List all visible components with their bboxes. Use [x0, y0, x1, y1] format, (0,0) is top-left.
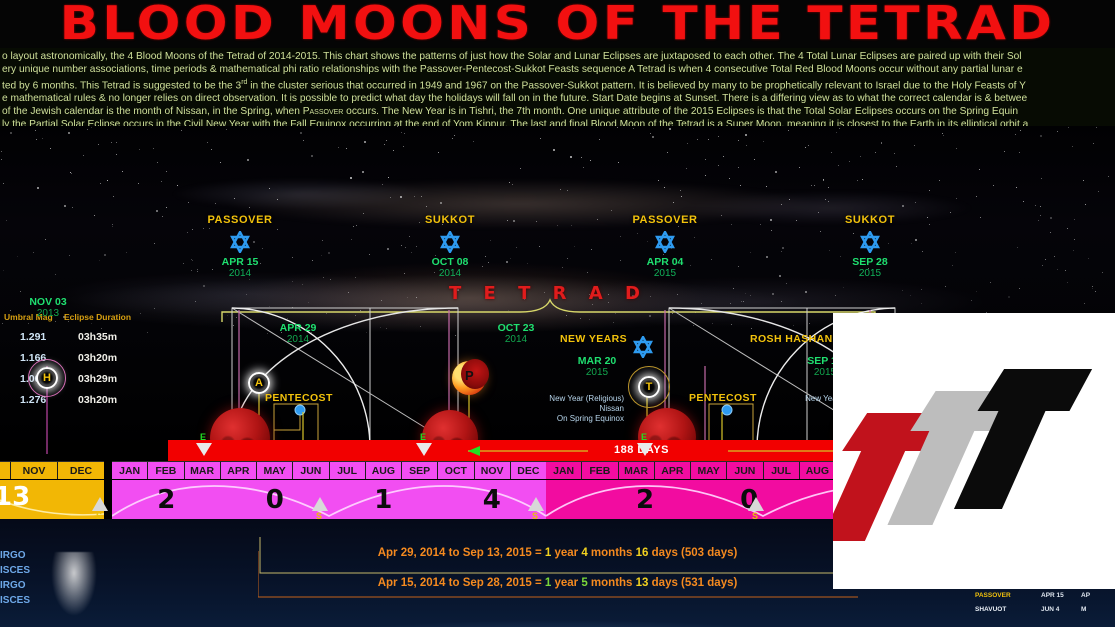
feast-year: 2014: [390, 268, 510, 280]
rosh-hashana-label: ROSH HASHANA: [750, 333, 841, 345]
summary-days: 13: [636, 577, 649, 589]
feast-name: SUKKOT: [390, 214, 510, 226]
feast-date: SEP 28: [810, 256, 930, 268]
feast-extra: AP: [1081, 592, 1101, 599]
solstice-marker-icon: [528, 497, 544, 511]
feast-extra: M: [1081, 606, 1101, 613]
eclipse-date-mar-2015: MAR 20 2015: [562, 355, 632, 379]
page-title: BLOOD MOONS OF THE TETRAD: [0, 0, 1115, 50]
intro-line: ted by 6 months. This Tetrad is suggeste…: [0, 76, 1115, 92]
month-cell: AUG: [366, 462, 402, 479]
month-cell: SEP: [402, 462, 438, 479]
virgo-constellation-art: [48, 552, 100, 622]
cell-umbral-mag: 1.276: [4, 394, 66, 406]
intro-line: ery unique number associations, time per…: [0, 63, 1115, 76]
month-cell: MAR: [185, 462, 221, 479]
zodiac-sign: ISCES: [0, 593, 30, 608]
zodiac-legend: IRGO ISCES IRGO ISCES: [0, 548, 30, 608]
intro-paragraph: o layout astronomically, the 4 Blood Moo…: [0, 48, 1115, 126]
month-cell: APR: [655, 462, 691, 479]
eclipse-date: MAR 20: [562, 355, 632, 367]
table-row: 1.166 03h20m: [4, 352, 154, 364]
ttt-logo-icon: [833, 313, 1115, 589]
year-digit: 2: [157, 485, 175, 515]
new-year-religious-month: Nissan: [528, 404, 624, 414]
month-cell: JUL: [330, 462, 366, 479]
cell-eclipse-duration: 03h35m: [66, 331, 154, 343]
feast-mini-table: PASSOVER APR 15 AP SHAVUOT JUN 4 M: [975, 592, 1115, 620]
intro-line: o layout astronomically, the 4 Blood Moo…: [0, 50, 1115, 63]
umbral-magnitude-table: Umbral Mag Eclipse Duration 1.291 03h35m…: [4, 312, 154, 406]
eclipse-node-t: T: [628, 366, 670, 408]
feast-year: 2015: [810, 268, 930, 280]
table-row: PASSOVER APR 15 AP: [975, 592, 1115, 599]
year-block-2013: OCT NOV DEC 13: [0, 461, 104, 519]
month-cell: JAN: [546, 462, 582, 479]
year-body-2014: 2 0 1 4: [112, 480, 546, 519]
new-years-label: NEW YEARS: [560, 333, 627, 345]
cell-eclipse-duration: 03h29m: [66, 373, 154, 385]
year-digit: 2: [636, 485, 654, 515]
star-of-david-icon: [632, 336, 654, 363]
feast-column-passover-2014: PASSOVER APR 15 2014: [180, 214, 300, 280]
month-cell: AUG: [800, 462, 836, 479]
summary-days-word: days (503 days): [648, 547, 737, 559]
month-cell: APR: [221, 462, 257, 479]
cell-eclipse-duration: 03h20m: [66, 394, 154, 406]
eclipse-node-letter: P: [465, 368, 474, 383]
year-digits-2013: 13: [0, 482, 30, 512]
cell-umbral-mag: 1.291: [4, 331, 66, 343]
new-year-religious-note: New Year (Religious) Nissan On Spring Eq…: [528, 394, 624, 424]
eclipse-node-h: H: [28, 359, 66, 397]
summary-days: 16: [636, 547, 649, 559]
solstice-marker-icon: [92, 497, 108, 511]
star-of-david-icon: [439, 231, 461, 253]
summary-years-word: year: [551, 577, 581, 589]
feast-column-sukkot-2014: SUKKOT OCT 08 2014: [390, 214, 510, 280]
feast-date: APR 15: [1041, 592, 1081, 599]
feast-name: PASSOVER: [975, 592, 1041, 599]
equinox-marker-icon: [196, 443, 212, 456]
feast-name: PASSOVER: [180, 214, 300, 226]
intro-line: ly the Partial Solar Eclipse occurs in t…: [0, 118, 1115, 126]
feast-column-sukkot-2015: SUKKOT SEP 28 2015: [810, 214, 930, 280]
month-row-2013: OCT NOV DEC: [0, 461, 104, 480]
year-digit: 0: [266, 485, 284, 515]
feast-column-passover-2015: PASSOVER APR 04 2015: [605, 214, 725, 280]
feast-date: JUN 4: [1041, 606, 1081, 613]
month-cell: NOV: [475, 462, 511, 479]
star-of-david-icon: [859, 231, 881, 253]
solstice-marker-icon: [312, 497, 328, 511]
summary-years-word: year: [551, 547, 581, 559]
eclipse-node-letter: H: [36, 367, 58, 389]
eclipse-year: 2014: [476, 334, 556, 346]
table-row: SHAVUOT JUN 4 M: [975, 606, 1115, 613]
equinox-marker-label: E: [200, 432, 206, 442]
new-year-religious-equinox: On Spring Equinox: [528, 414, 624, 424]
month-cell: MAY: [691, 462, 727, 479]
eclipse-date-nov-2013: NOV 03 2013: [8, 296, 88, 320]
star-of-david-icon: [229, 231, 251, 253]
year-digit: 1: [374, 485, 392, 515]
month-cell: JUL: [764, 462, 800, 479]
month-cell: DEC: [58, 462, 104, 479]
month-cell: FEB: [582, 462, 618, 479]
feast-name: SUKKOT: [810, 214, 930, 226]
month-row-2014: JAN FEB MAR APR MAY JUN JUL AUG SEP OCT …: [112, 461, 546, 480]
pentecost-label-right: PENTECOST: [689, 392, 757, 404]
month-cell: NOV: [11, 462, 58, 479]
month-cell: MAY: [257, 462, 293, 479]
zodiac-sign: IRGO: [0, 548, 30, 563]
eclipse-date: APR 29: [258, 322, 338, 334]
new-year-religious-label: New Year (Religious): [528, 394, 624, 404]
summary-prefix: Apr 29, 2014 to Sep 13, 2015 =: [378, 547, 545, 559]
year-block-2014: JAN FEB MAR APR MAY JUN JUL AUG SEP OCT …: [112, 461, 546, 519]
infographic-canvas: BLOOD MOONS OF THE TETRAD o layout astro…: [0, 0, 1115, 627]
table-row: 1.276 03h20m: [4, 394, 154, 406]
month-cell: DEC: [511, 462, 546, 479]
feast-name: PASSOVER: [605, 214, 725, 226]
intro-line: e mathematical rules & no longer relies …: [0, 92, 1115, 105]
pentecost-label-left: PENTECOST: [265, 392, 333, 404]
summary-months-word: months: [588, 547, 636, 559]
title-bar: BLOOD MOONS OF THE TETRAD: [0, 0, 1115, 50]
year-digit: 4: [483, 485, 501, 515]
feast-name: SHAVUOT: [975, 606, 1041, 613]
equinox-marker-icon: [416, 443, 432, 456]
feast-date: OCT 08: [390, 256, 510, 268]
year-digits-2014: 2 0 1 4: [112, 480, 546, 519]
table-row: 1.291 03h35m: [4, 331, 154, 343]
summary-days-word: days (531 days): [648, 577, 737, 589]
month-cell: OCT: [438, 462, 474, 479]
month-cell: JUN: [727, 462, 763, 479]
eclipse-date-apr-2014: APR 29 2014: [258, 322, 338, 346]
month-cell: JUN: [293, 462, 329, 479]
cell-eclipse-duration: 03h20m: [66, 352, 154, 364]
tetrad-label: T E T R A D: [449, 283, 648, 304]
zodiac-sign: IRGO: [0, 578, 30, 593]
equinox-marker-icon: [637, 443, 653, 456]
ttt-logo: [833, 313, 1115, 589]
year-body-2013: 13: [0, 480, 104, 519]
month-cell: MAR: [619, 462, 655, 479]
feast-date: APR 04: [605, 256, 725, 268]
solstice-marker-icon: [748, 497, 764, 511]
summary-months-word: months: [588, 577, 636, 589]
eclipse-year: 2015: [562, 367, 632, 379]
eclipse-date: NOV 03: [8, 296, 88, 308]
summary-prefix: Apr 15, 2014 to Sep 28, 2015 =: [378, 577, 545, 589]
equinox-marker-label: E: [641, 432, 647, 442]
partial-solar-eclipse-p: P: [452, 361, 486, 395]
table-row: 1.001 03h29m: [4, 373, 154, 385]
eclipse-node-letter: T: [638, 376, 660, 398]
feast-year: 2015: [605, 268, 725, 280]
equinox-marker-label: E: [420, 432, 426, 442]
eclipse-date: OCT 23: [476, 322, 556, 334]
month-cell: OCT: [0, 462, 11, 479]
eclipse-node-letter: A: [248, 372, 270, 394]
month-cell: FEB: [148, 462, 184, 479]
eclipse-date-oct-2014: OCT 23 2014: [476, 322, 556, 346]
eclipse-year: 2013: [8, 308, 88, 320]
intro-line: of the Jewish calendar is the month of N…: [0, 105, 1115, 118]
zodiac-sign: ISCES: [0, 563, 30, 578]
feast-date: APR 15: [180, 256, 300, 268]
star-of-david-icon: [654, 231, 676, 253]
feast-year: 2014: [180, 268, 300, 280]
eclipse-year: 2014: [258, 334, 338, 346]
month-cell: JAN: [112, 462, 148, 479]
